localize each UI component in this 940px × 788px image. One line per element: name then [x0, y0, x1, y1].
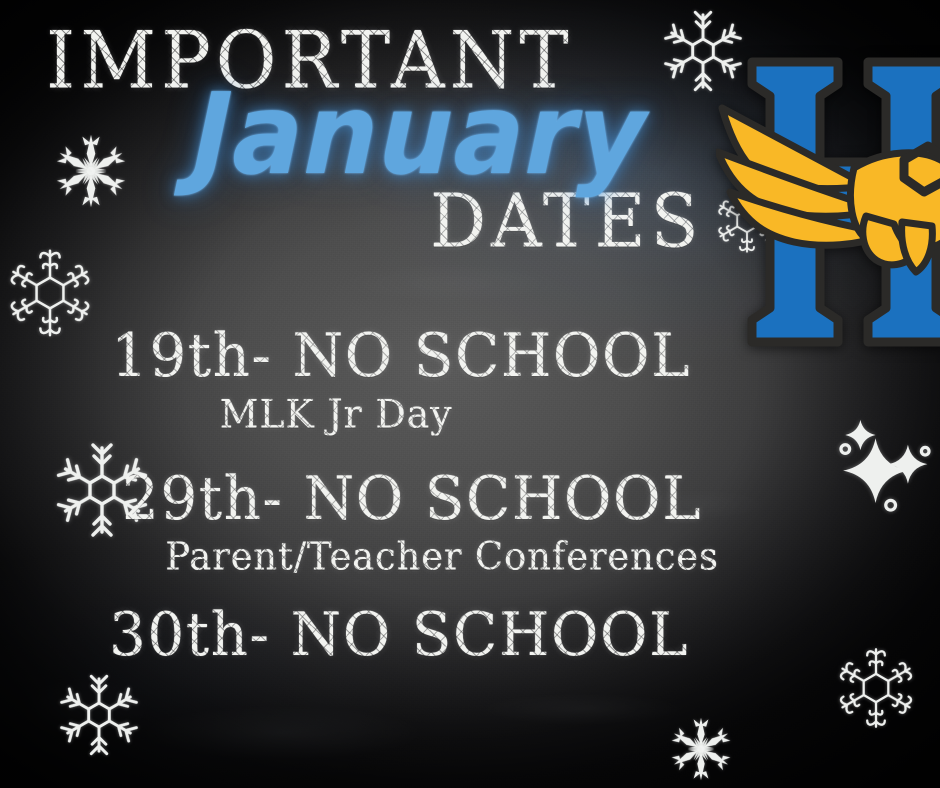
- dates-list: 19th- NO SCHOOL MLK Jr Day 29th- NO SCHO…: [0, 326, 810, 664]
- date-entry: 29th- NO SCHOOL Parent/Teacher Conferenc…: [14, 469, 810, 577]
- date-entry-main: 29th- NO SCHOOL: [14, 468, 810, 530]
- date-entry-sub: Parent/Teacher Conferences: [74, 538, 810, 578]
- date-entry-sub: MLK Jr Day: [0, 395, 810, 436]
- date-entry: 30th- NO SCHOOL: [0, 605, 810, 664]
- school-mascot-logo: [716, 40, 940, 370]
- poster-canvas: IMPORTANT January DATES: [0, 0, 940, 788]
- date-entry-main: 19th- NO SCHOOL: [0, 325, 810, 387]
- headline-january: January: [191, 78, 648, 190]
- date-entry: 19th- NO SCHOOL MLK Jr Day: [0, 326, 810, 435]
- date-entry-main: 30th- NO SCHOOL: [0, 604, 810, 666]
